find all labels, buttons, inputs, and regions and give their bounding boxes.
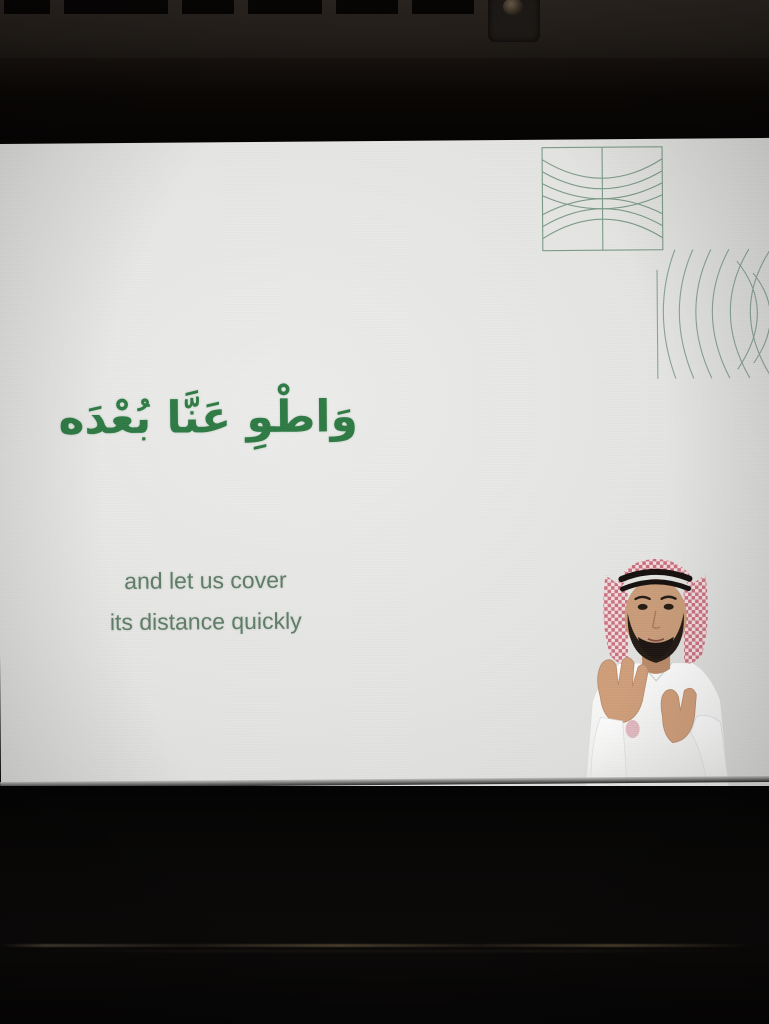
nested-arcs-motif-icon [653, 243, 769, 379]
ceiling-bezel [0, 0, 769, 62]
desk-edge-highlight [0, 944, 769, 947]
vent-slot [412, 0, 474, 14]
vent-slot [182, 0, 234, 14]
desk-edge-highlight-secondary [0, 950, 769, 952]
english-line: its distance quickly [0, 600, 412, 644]
photo-frame: وَاطْوِ عَنَّا بُعْدَه and let us cover … [0, 0, 769, 1024]
english-line: and let us cover [0, 559, 412, 603]
bezel-shadow [0, 58, 769, 148]
vent-slot [64, 0, 168, 14]
vent-slot [248, 0, 322, 14]
mount-screw-icon [488, 0, 540, 42]
vent-grille [0, 0, 769, 18]
sign-language-interpreter [565, 550, 747, 791]
slide-english-translation: and let us cover its distance quickly [0, 559, 412, 644]
lower-dark-area [0, 786, 769, 1024]
slide-arabic-headline: وَاطْوِ عَنَّا بُعْدَه [0, 389, 418, 447]
vent-slot [336, 0, 398, 14]
vent-slot [4, 0, 50, 14]
presentation-slide: وَاطْوِ عَنَّا بُعْدَه and let us cover … [0, 138, 769, 792]
square-arc-motif-icon [537, 143, 668, 254]
